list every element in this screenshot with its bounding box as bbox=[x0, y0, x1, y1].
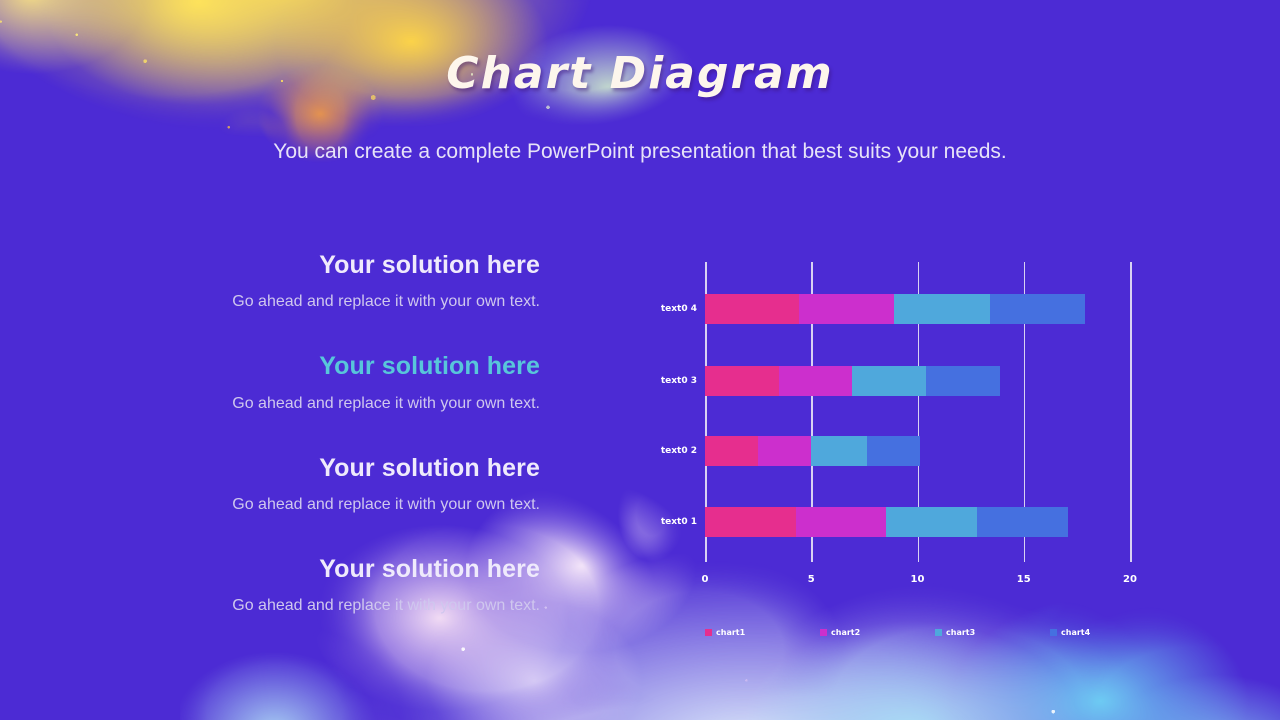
solution-heading: Your solution here bbox=[120, 351, 540, 382]
chart-plot-area: 05101520text0 4text0 3text0 2text0 1 bbox=[705, 262, 1130, 562]
bar-segment-chart2 bbox=[796, 507, 885, 537]
bar-segment-chart3 bbox=[894, 294, 990, 324]
y-axis-category-label: text0 2 bbox=[661, 446, 697, 456]
x-axis-tick-label: 5 bbox=[808, 574, 815, 585]
bar-segment-chart4 bbox=[867, 436, 920, 466]
solution-body-text: Go ahead and replace it with your own te… bbox=[120, 496, 540, 514]
bar-segment-chart4 bbox=[977, 507, 1068, 537]
bar-segment-chart3 bbox=[811, 436, 866, 466]
page-title: Chart Diagram bbox=[0, 48, 1280, 99]
bar-segment-chart4 bbox=[990, 294, 1086, 324]
solution-heading: Your solution here bbox=[120, 250, 540, 281]
legend-swatch-icon bbox=[935, 629, 942, 636]
bar-segment-chart3 bbox=[852, 366, 926, 396]
legend-label: chart3 bbox=[946, 628, 975, 637]
y-axis-category-label: text0 4 bbox=[661, 304, 697, 314]
chart-bar-row: text0 2 bbox=[705, 436, 1130, 466]
legend-swatch-icon bbox=[820, 629, 827, 636]
legend-swatch-icon bbox=[1050, 629, 1057, 636]
legend-item[interactable]: chart4 bbox=[1050, 628, 1165, 637]
chart-legend: chart1chart2chart3chart4 bbox=[705, 628, 1165, 637]
bar-segment-chart2 bbox=[799, 294, 895, 324]
solution-body-text: Go ahead and replace it with your own te… bbox=[120, 597, 540, 615]
x-axis-tick-label: 0 bbox=[702, 574, 709, 585]
x-axis-tick-label: 10 bbox=[911, 574, 925, 585]
x-axis-tick-label: 20 bbox=[1123, 574, 1137, 585]
solution-body-text: Go ahead and replace it with your own te… bbox=[120, 293, 540, 311]
bar-segment-chart1 bbox=[705, 294, 799, 324]
chart-bar-row: text0 3 bbox=[705, 366, 1130, 396]
bar-segment-chart1 bbox=[705, 366, 779, 396]
bar-segment-chart4 bbox=[926, 366, 1000, 396]
solution-block: Your solution hereGo ahead and replace i… bbox=[120, 351, 540, 412]
x-axis-tick-label: 15 bbox=[1017, 574, 1031, 585]
y-axis-category-label: text0 3 bbox=[661, 376, 697, 386]
legend-swatch-icon bbox=[705, 629, 712, 636]
bar-segment-chart1 bbox=[705, 507, 796, 537]
legend-label: chart1 bbox=[716, 628, 745, 637]
legend-label: chart2 bbox=[831, 628, 860, 637]
solution-list: Your solution hereGo ahead and replace i… bbox=[120, 250, 540, 655]
y-axis-category-label: text0 1 bbox=[661, 517, 697, 527]
solution-block: Your solution hereGo ahead and replace i… bbox=[120, 554, 540, 615]
stacked-bar-chart: 05101520text0 4text0 3text0 2text0 1 cha… bbox=[655, 250, 1165, 650]
solution-block: Your solution hereGo ahead and replace i… bbox=[120, 453, 540, 514]
chart-bar-row: text0 1 bbox=[705, 507, 1130, 537]
bar-segment-chart3 bbox=[886, 507, 977, 537]
legend-item[interactable]: chart1 bbox=[705, 628, 820, 637]
chart-gridline bbox=[1130, 262, 1132, 562]
bar-segment-chart1 bbox=[705, 436, 758, 466]
legend-label: chart4 bbox=[1061, 628, 1090, 637]
page-subtitle: You can create a complete PowerPoint pre… bbox=[0, 140, 1280, 164]
legend-item[interactable]: chart3 bbox=[935, 628, 1050, 637]
bar-segment-chart2 bbox=[779, 366, 851, 396]
bar-segment-chart2 bbox=[758, 436, 811, 466]
solution-heading: Your solution here bbox=[120, 453, 540, 484]
chart-bar-row: text0 4 bbox=[705, 294, 1130, 324]
solution-body-text: Go ahead and replace it with your own te… bbox=[120, 395, 540, 413]
legend-item[interactable]: chart2 bbox=[820, 628, 935, 637]
solution-block: Your solution hereGo ahead and replace i… bbox=[120, 250, 540, 311]
solution-heading: Your solution here bbox=[120, 554, 540, 585]
